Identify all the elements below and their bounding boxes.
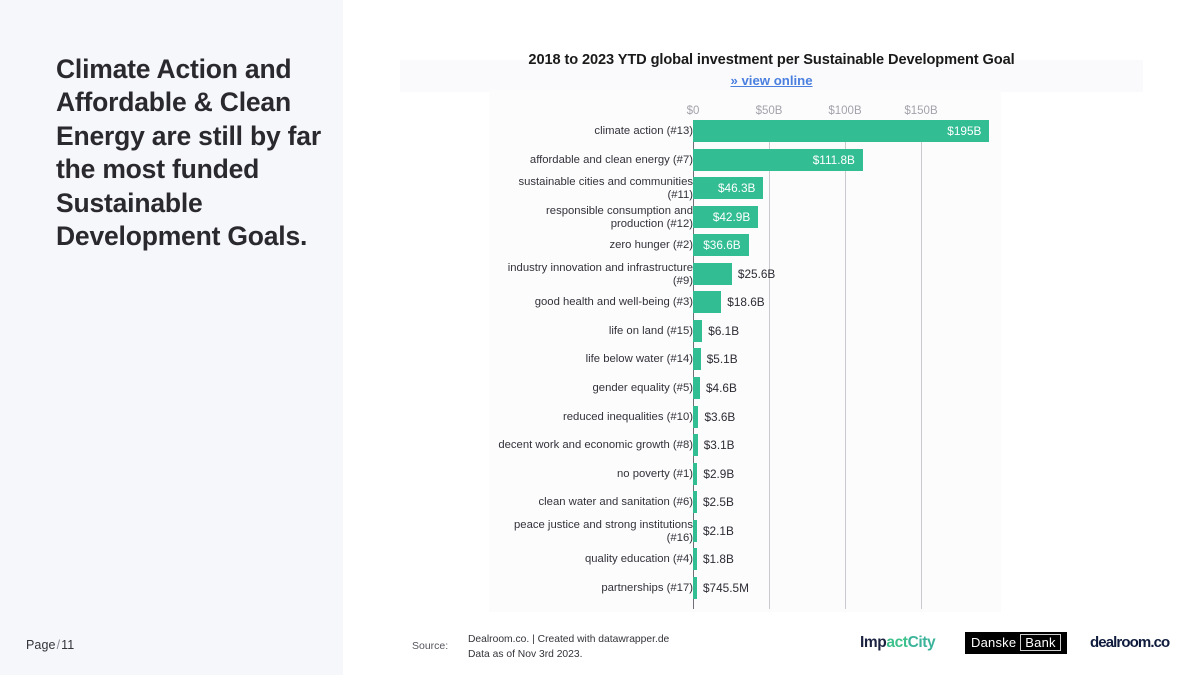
bar[interactable] [693,377,700,399]
bar-row[interactable]: peace justice and strong institutions(#1… [489,520,1001,546]
bar-value-label: $46.3B [718,177,755,199]
bar-category-line: zero hunger (#2) [493,239,693,252]
bar-row[interactable]: no poverty (#1)$2.9B [489,463,1001,489]
bar-category-label: quality education (#4) [493,553,693,566]
bar-category-line: reduced inequalities (#10) [493,411,693,424]
bar-category-line: decent work and economic growth (#8) [493,439,693,452]
bar-category-line: clean water and sanitation (#6) [493,496,693,509]
bar-category-label: zero hunger (#2) [493,239,693,252]
bar-row[interactable]: climate action (#13)$195B [489,120,1001,146]
bar-row[interactable]: zero hunger (#2)$36.6B [489,234,1001,260]
bar-row[interactable]: gender equality (#5)$4.6B [489,377,1001,403]
impactcity-logo-part2: act [886,634,907,651]
bar-category-line: quality education (#4) [493,553,693,566]
bar-value-label: $1.8B [703,548,734,570]
bar-value-label: $25.6B [738,263,775,285]
bar-category-label: responsible consumption andproduction (#… [493,205,693,231]
bar-value-label: $5.1B [707,348,738,370]
bar-category-label: decent work and economic growth (#8) [493,439,693,452]
bar-category-label: industry innovation and infrastructure(#… [493,262,693,288]
view-online-label[interactable]: » view online [730,73,812,88]
bar-category-label: no poverty (#1) [493,468,693,481]
bar-category-line: responsible consumption and [493,205,693,218]
left-panel: Climate Action and Affordable & Clean En… [0,0,343,675]
bar-category-label: life below water (#14) [493,353,693,366]
bar-category-line: gender equality (#5) [493,382,693,395]
bar-category-label: reduced inequalities (#10) [493,411,693,424]
bar[interactable] [693,434,698,456]
bar-category-line: life on land (#15) [493,325,693,338]
bar-category-line: production (#12) [493,218,693,231]
x-axis-tick-label: $150B [904,105,937,117]
bar-value-label: $3.6B [704,406,735,428]
bar-category-label: partnerships (#17) [493,582,693,595]
bar-value-label: $195B [947,120,981,142]
bar[interactable] [693,406,698,428]
x-axis-tick-label: $0 [687,105,700,117]
danske-bank-logo: DanskeBank [965,632,1067,654]
x-axis-tick-label: $100B [828,105,861,117]
chart-title: 2018 to 2023 YTD global investment per S… [400,52,1143,68]
danske-logo-part1: Danske [971,635,1016,650]
bar-category-label: affordable and clean energy (#7) [493,154,693,167]
bar-category-label: peace justice and strong institutions(#1… [493,519,693,545]
bar-row[interactable]: quality education (#4)$1.8B [489,548,1001,574]
bar-category-line: affordable and clean energy (#7) [493,154,693,167]
bar-value-label: $6.1B [708,320,739,342]
bar-value-label: $4.6B [706,377,737,399]
page-word: Page [26,638,56,652]
bar[interactable] [693,120,989,142]
bar[interactable] [693,491,697,513]
bar-row[interactable]: decent work and economic growth (#8)$3.1… [489,434,1001,460]
view-online-link[interactable]: » view online [400,73,1143,88]
bar-category-line: industry innovation and infrastructure [493,262,693,275]
bar[interactable] [693,463,697,485]
danske-logo-part2: Bank [1020,634,1060,651]
bar-category-line: partnerships (#17) [493,582,693,595]
bar-value-label: $42.9B [713,206,750,228]
bar-row[interactable]: reduced inequalities (#10)$3.6B [489,406,1001,432]
bar-row[interactable]: life on land (#15)$6.1B [489,320,1001,346]
bar-value-label: $2.1B [703,520,734,542]
bar-value-label: $36.6B [703,234,740,256]
bar-chart-plot: $0$50B$100B$150Bclimate action (#13)$195… [489,100,1001,612]
page-total: 11 [61,638,74,652]
bar[interactable] [693,577,697,599]
slide-canvas: Climate Action and Affordable & Clean En… [0,0,1200,675]
bar-row[interactable]: good health and well-being (#3)$18.6B [489,291,1001,317]
bar-row[interactable]: responsible consumption andproduction (#… [489,206,1001,232]
bar-row[interactable]: sustainable cities and communities(#11)$… [489,177,1001,203]
bar-category-line: (#9) [493,275,693,288]
source-line-2: Data as of Nov 3rd 2023. [468,647,669,662]
bar[interactable] [693,320,702,342]
bar-row[interactable]: life below water (#14)$5.1B [489,348,1001,374]
bar-row[interactable]: affordable and clean energy (#7)$111.8B [489,149,1001,175]
bar-value-label: $2.5B [703,491,734,513]
bar[interactable] [693,520,697,542]
source-text: Dealroom.co. | Created with datawrapper.… [468,632,669,663]
bar[interactable] [693,291,721,313]
bar[interactable] [693,548,697,570]
bar-category-label: clean water and sanitation (#6) [493,496,693,509]
bar-value-label: $111.8B [813,149,855,171]
page-number: Page/11 [26,638,74,652]
bar-value-label: $2.9B [703,463,734,485]
bar-category-line: good health and well-being (#3) [493,296,693,309]
page-title: Climate Action and Affordable & Clean En… [56,53,324,253]
bar-category-line: (#16) [493,532,693,545]
bar-row[interactable]: industry innovation and infrastructure(#… [489,263,1001,289]
source-line-1: Dealroom.co. | Created with datawrapper.… [468,632,669,647]
bar[interactable] [693,263,732,285]
bar-category-label: climate action (#13) [493,125,693,138]
bar-category-line: life below water (#14) [493,353,693,366]
bar-row[interactable]: partnerships (#17)$745.5M [489,577,1001,603]
bar-category-label: good health and well-being (#3) [493,296,693,309]
bar-category-line: sustainable cities and communities [493,176,693,189]
bar-category-label: life on land (#15) [493,325,693,338]
impactcity-logo-part3: City [908,634,936,651]
bar-value-label: $18.6B [727,291,764,313]
bar[interactable] [693,348,701,370]
bar-category-label: gender equality (#5) [493,382,693,395]
bar-category-label: sustainable cities and communities(#11) [493,176,693,202]
bar-category-line: peace justice and strong institutions [493,519,693,532]
source-label: Source: [412,640,448,652]
bar-category-line: (#11) [493,189,693,202]
bar-category-line: climate action (#13) [493,125,693,138]
bar-category-line: no poverty (#1) [493,468,693,481]
x-axis-tick-label: $50B [756,105,783,117]
logo-row: ImpactCity DanskeBank dealroom.co [860,631,1180,659]
impactcity-logo: ImpactCity [860,634,935,652]
bar-row[interactable]: clean water and sanitation (#6)$2.5B [489,491,1001,517]
bar-value-label: $745.5M [703,577,749,599]
bar-value-label: $3.1B [704,434,735,456]
impactcity-logo-part1: Imp [860,634,886,651]
dealroom-logo: dealroom.co [1090,634,1169,651]
